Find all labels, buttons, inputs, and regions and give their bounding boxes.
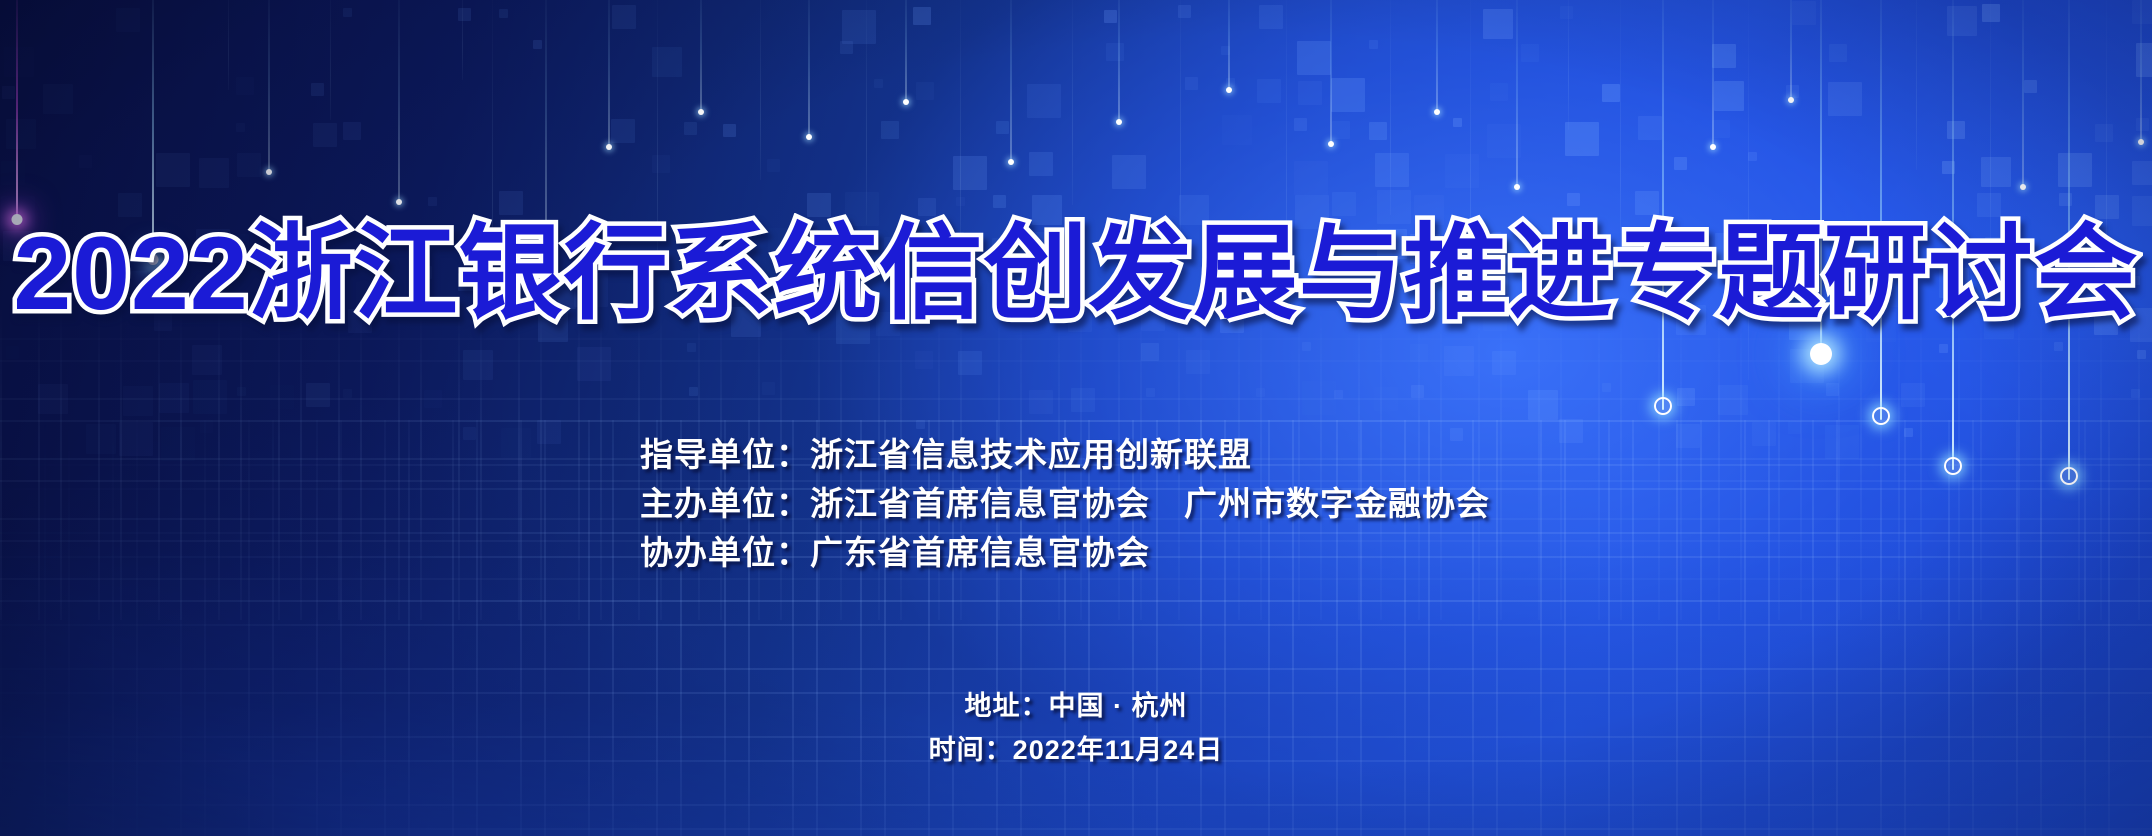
poster-title: 2022浙江银行系统信创发展与推进专题研讨会 (0, 222, 2152, 326)
venue-date-line: 时间：2022年11月24日 (0, 728, 2152, 772)
organizer-block: 指导单位：浙江省信息技术应用创新联盟 主办单位：浙江省首席信息官协会 广州市数字… (640, 430, 1490, 577)
organizer-line-host: 主办单位：浙江省首席信息官协会 广州市数字金融协会 (640, 479, 1490, 528)
venue-block: 地址：中国 · 杭州 时间：2022年11月24日 (0, 684, 2152, 772)
event-poster: 2022浙江银行系统信创发展与推进专题研讨会 指导单位：浙江省信息技术应用创新联… (0, 0, 2152, 836)
poster-content: 2022浙江银行系统信创发展与推进专题研讨会 指导单位：浙江省信息技术应用创新联… (0, 0, 2152, 836)
venue-address-line: 地址：中国 · 杭州 (0, 684, 2152, 728)
organizer-line-cohost: 协办单位：广东省首席信息官协会 (640, 528, 1490, 577)
organizer-line-guidance: 指导单位：浙江省信息技术应用创新联盟 (640, 430, 1490, 479)
